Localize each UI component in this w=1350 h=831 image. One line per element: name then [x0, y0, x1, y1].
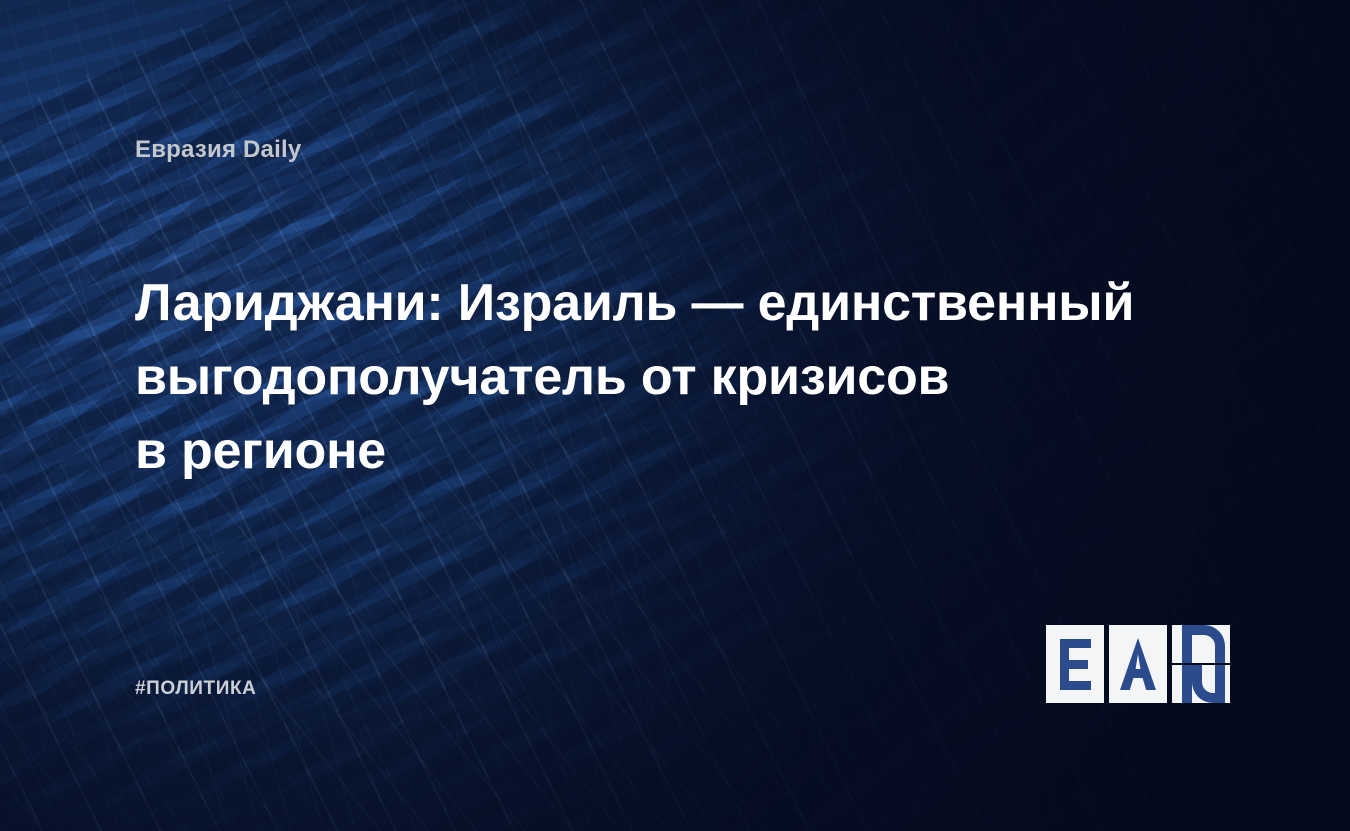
logo-tile-d	[1172, 625, 1230, 703]
card-content: Евразия Daily Лариджани: Израиль — единс…	[0, 0, 1350, 831]
brand-name: Евразия Daily	[135, 136, 301, 164]
logo-tile-e	[1046, 625, 1104, 703]
logo-tile-d-lower	[1172, 665, 1230, 703]
category-hashtag: #ПОЛИТИКА	[135, 678, 257, 700]
ead-logo	[1046, 625, 1230, 703]
logo-tile-d-upper	[1172, 625, 1230, 663]
headline-title: Лариджани: Израиль — единственный выгодо…	[135, 266, 1195, 488]
logo-tile-a	[1109, 625, 1167, 703]
news-card: Евразия Daily Лариджани: Израиль — единс…	[0, 0, 1350, 831]
